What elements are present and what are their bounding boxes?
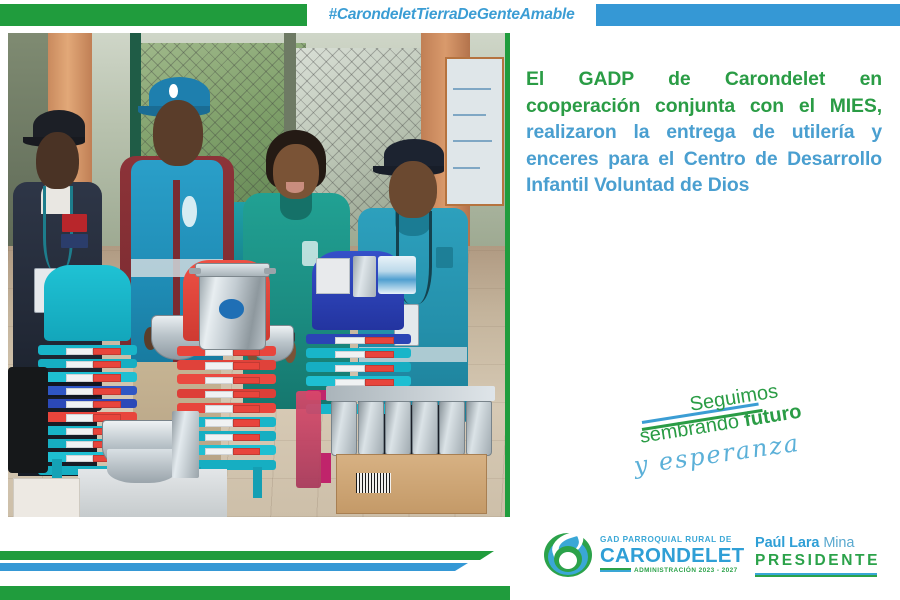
bolsa-negra xyxy=(8,367,48,473)
caja-blanca xyxy=(13,478,80,517)
logo-line-2: CARONDELET xyxy=(600,545,744,566)
hashtag-text: #CarondeletTierraDeGenteAmable xyxy=(307,3,596,27)
vasos-metalicos-apilados xyxy=(353,256,375,297)
bottom-stripe-green-lower xyxy=(0,586,510,600)
olla-tapa xyxy=(195,263,271,278)
caja-pequena-producto xyxy=(316,258,350,294)
bottom-stripe-green-upper xyxy=(0,551,480,560)
gad-logo-text: GAD PARROQUIAL RURAL DE CARONDELET ADMIN… xyxy=(600,535,744,575)
columna-vasos xyxy=(172,411,199,479)
president-rule xyxy=(755,573,877,577)
headline-blue-segment: realizaron la entrega de utilería y ence… xyxy=(526,121,882,196)
president-name-bold: Paúl Lara xyxy=(755,535,819,551)
poster-canvas: #CarondeletTierraDeGenteAmable xyxy=(0,0,900,600)
event-photo xyxy=(8,33,510,517)
gad-carondelet-logo: GAD PARROQUIAL RURAL DE CARONDELET ADMIN… xyxy=(543,527,743,583)
president-role: PRESIDENTE xyxy=(755,552,890,570)
olla-asa-izquierda xyxy=(189,268,201,274)
tazones-apilados xyxy=(107,449,177,483)
olla-logo xyxy=(219,299,244,318)
bottom-stripe-blue xyxy=(0,563,455,571)
grupo-ollas-pequenas xyxy=(331,401,490,454)
gad-logo-mark-icon xyxy=(543,530,593,580)
logo-line-3: ADMINISTRACIÓN 2023 - 2027 xyxy=(600,566,744,575)
president-name-light: Mina xyxy=(819,535,854,551)
envoltura-rosada xyxy=(296,391,321,488)
slogan-block: Seguimos sembrando futuro y esperanza xyxy=(612,392,842,484)
president-name: Paúl Lara Mina xyxy=(755,535,890,552)
bandeja-metalica xyxy=(326,386,495,401)
topbar-green-block xyxy=(0,4,307,26)
jarra-plastica xyxy=(378,256,415,295)
topbar-blue-block xyxy=(596,4,900,26)
headline-green-segment: El GADP de Carondelet en cooperación con… xyxy=(526,68,882,117)
logo-line-3-text: ADMINISTRACIÓN 2023 - 2027 xyxy=(634,567,738,574)
headline-text: El GADP de Carondelet en cooperación con… xyxy=(526,66,882,199)
photo-scene xyxy=(8,33,505,517)
president-signature-block: Paúl Lara Mina PRESIDENTE xyxy=(755,535,890,577)
olla-asa-derecha xyxy=(264,268,276,274)
etiqueta-codigo-barras xyxy=(356,473,391,492)
top-hashtag-bar: #CarondeletTierraDeGenteAmable xyxy=(0,0,900,29)
